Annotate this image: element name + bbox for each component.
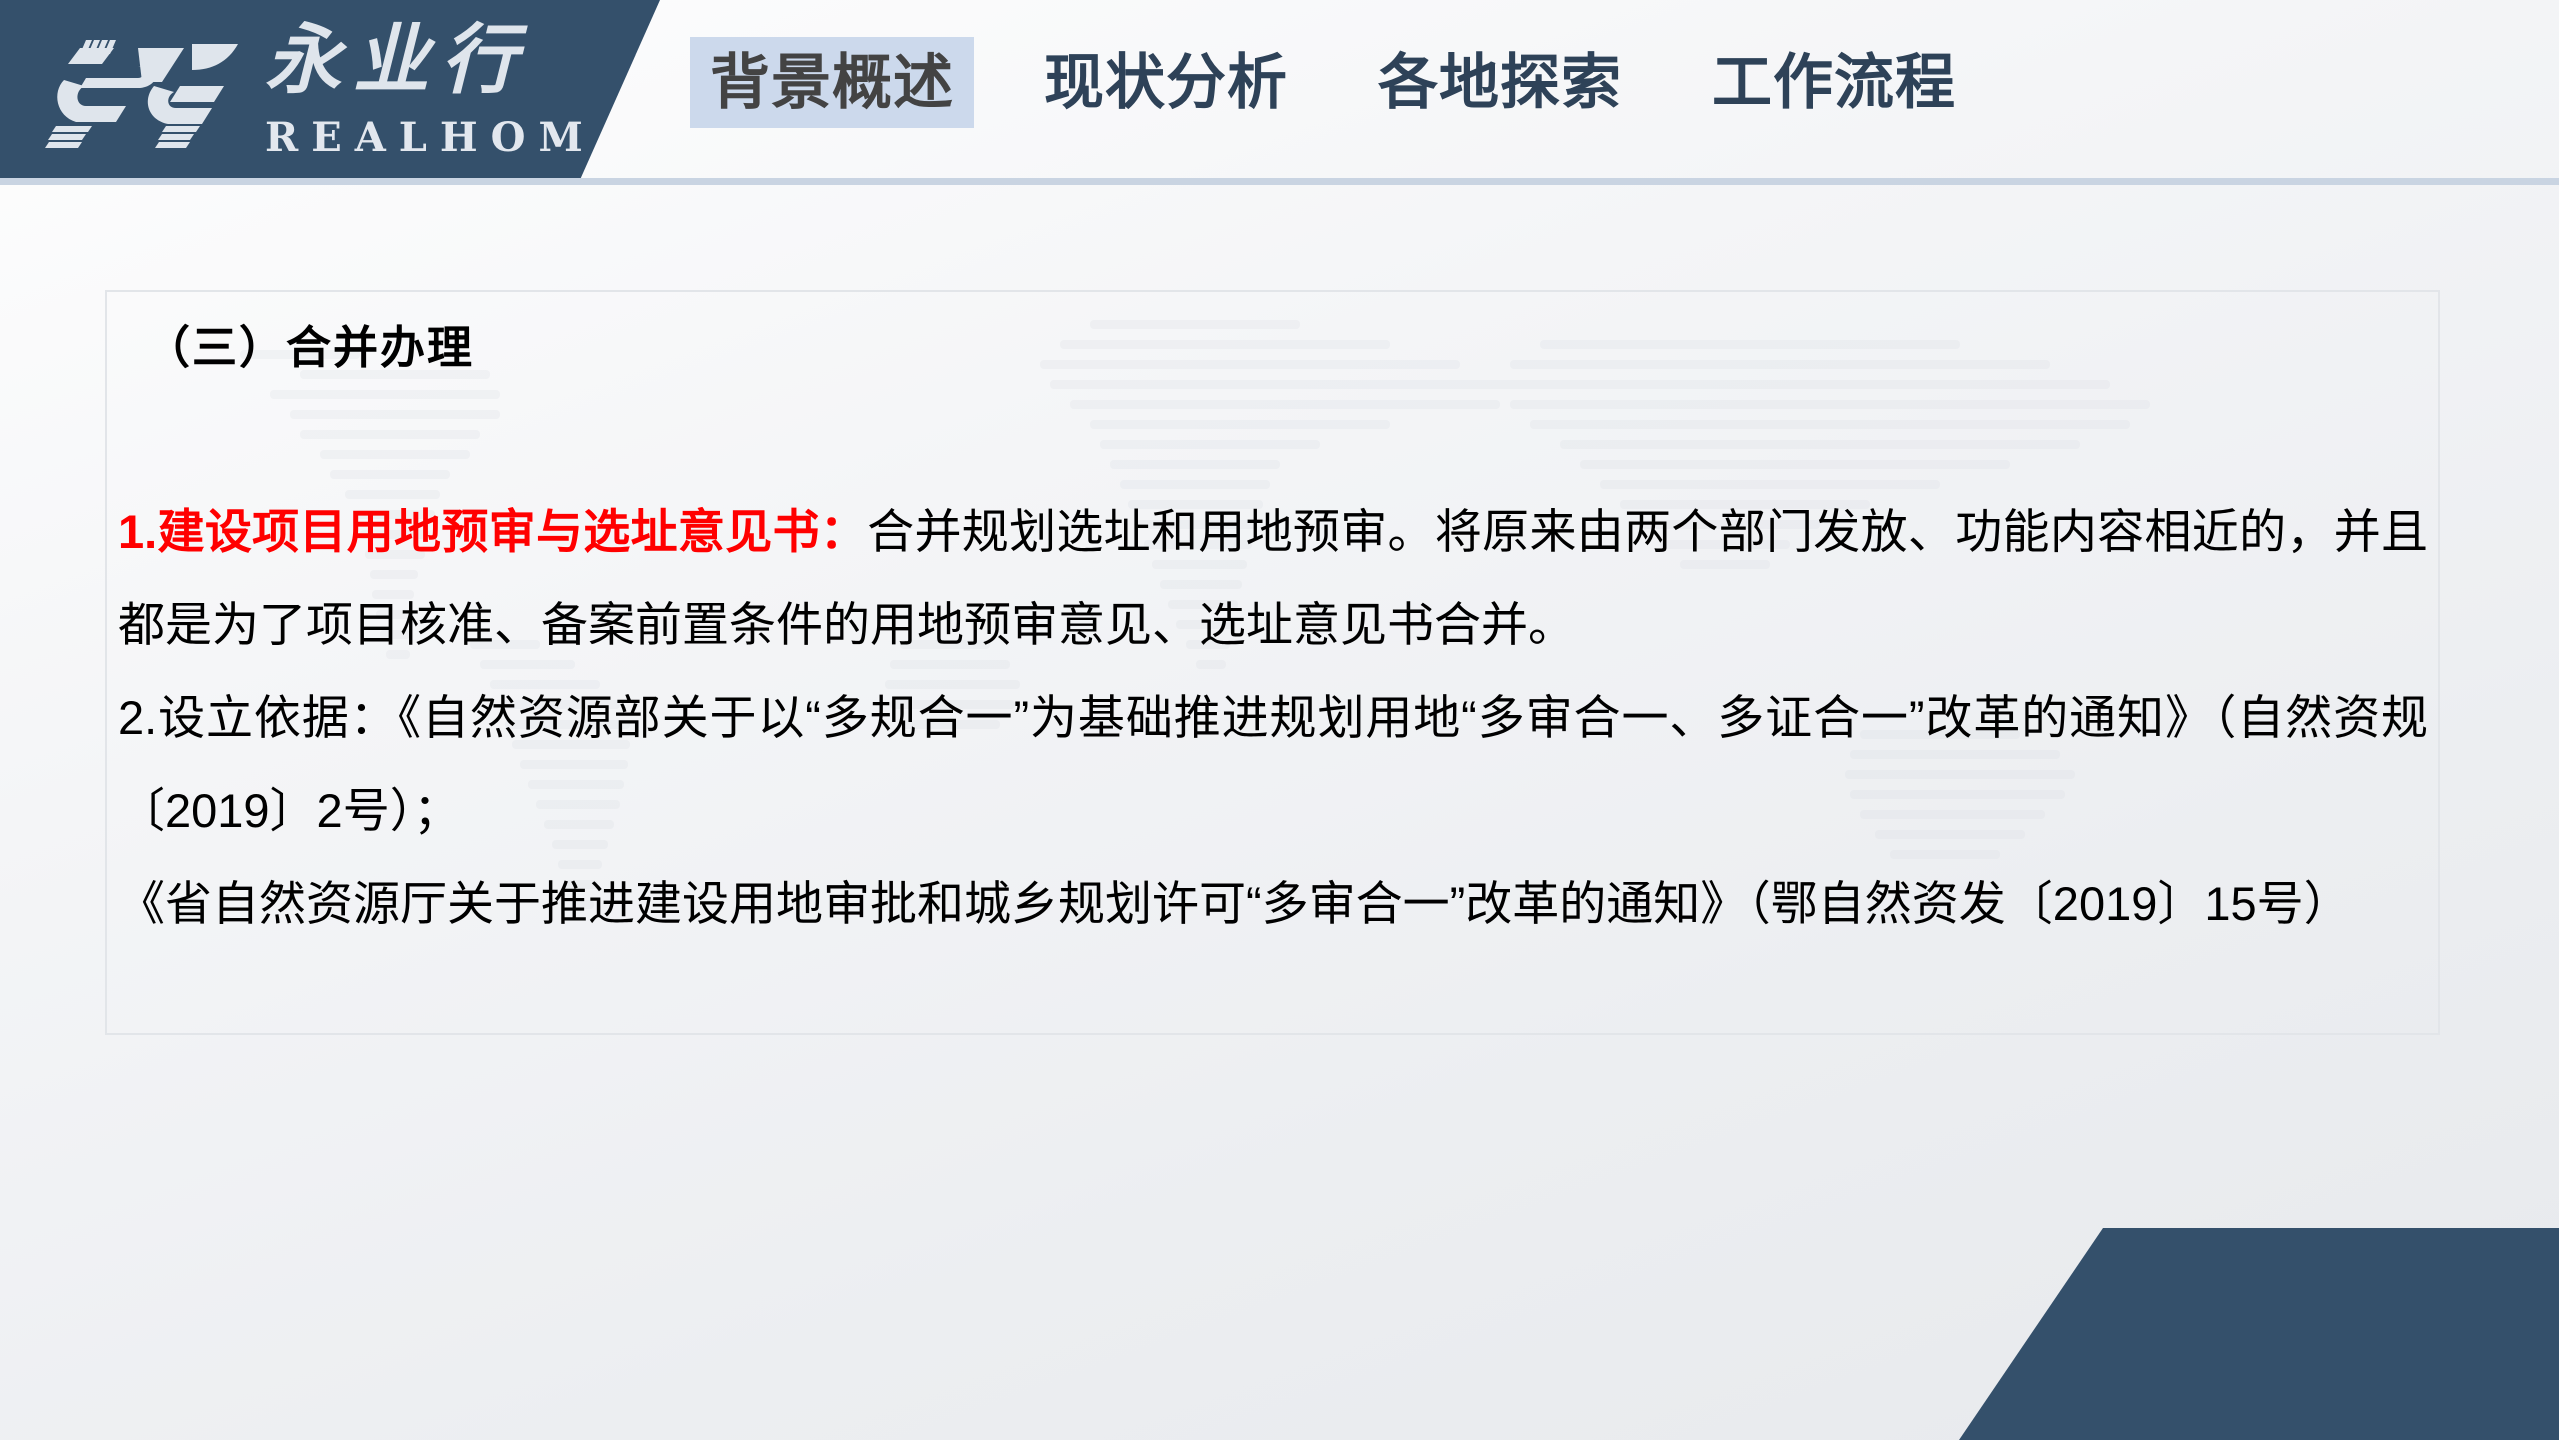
body-text: 1.建设项目用地预审与选址意见书：合并规划选址和用地预审。将原来由两个部门发放、… bbox=[118, 485, 2428, 950]
header-band: 永业行 REALHOM 背景概述 现状分析 各地探索 工作流程 bbox=[0, 0, 2559, 185]
paragraph-2: 2.设立依据：《自然资源部关于以“多规合一”为基础推进规划用地“多审合一、多证合… bbox=[118, 671, 2428, 857]
nav-tab-background-overview[interactable]: 背景概述 bbox=[690, 37, 974, 128]
presentation-slide: 永业行 REALHOM 背景概述 现状分析 各地探索 工作流程 （三）合并办理 … bbox=[0, 0, 2559, 1440]
paragraph-3-body: 《省自然资源厅关于推进建设用地审批和城乡规划许可“多审合一”改革的通知》（鄂自然… bbox=[118, 877, 2351, 930]
nav-tab-current-situation-analysis[interactable]: 现状分析 bbox=[1024, 37, 1308, 128]
logo-chinese-name: 永业行 bbox=[265, 22, 529, 98]
paragraph-1: 1.建设项目用地预审与选址意见书：合并规划选址和用地预审。将原来由两个部门发放、… bbox=[118, 485, 2428, 671]
paragraph-1-red-lead: 1.建设项目用地预审与选址意见书： bbox=[118, 505, 867, 558]
logo-english-name: REALHOM bbox=[265, 118, 596, 158]
header-divider bbox=[0, 178, 2559, 185]
section-title: （三）合并办理 bbox=[145, 325, 474, 370]
paragraph-3: 《省自然资源厅关于推进建设用地审批和城乡规划许可“多审合一”改革的通知》（鄂自然… bbox=[118, 857, 2428, 950]
realhom-logo-icon bbox=[42, 30, 272, 152]
nav-tab-regional-exploration[interactable]: 各地探索 bbox=[1358, 37, 1642, 128]
section-nav: 背景概述 现状分析 各地探索 工作流程 bbox=[690, 22, 1976, 142]
paragraph-2-body: 2.设立依据：《自然资源部关于以“多规合一”为基础推进规划用地“多审合一、多证合… bbox=[118, 691, 2428, 837]
nav-tab-work-process[interactable]: 工作流程 bbox=[1692, 37, 1976, 128]
